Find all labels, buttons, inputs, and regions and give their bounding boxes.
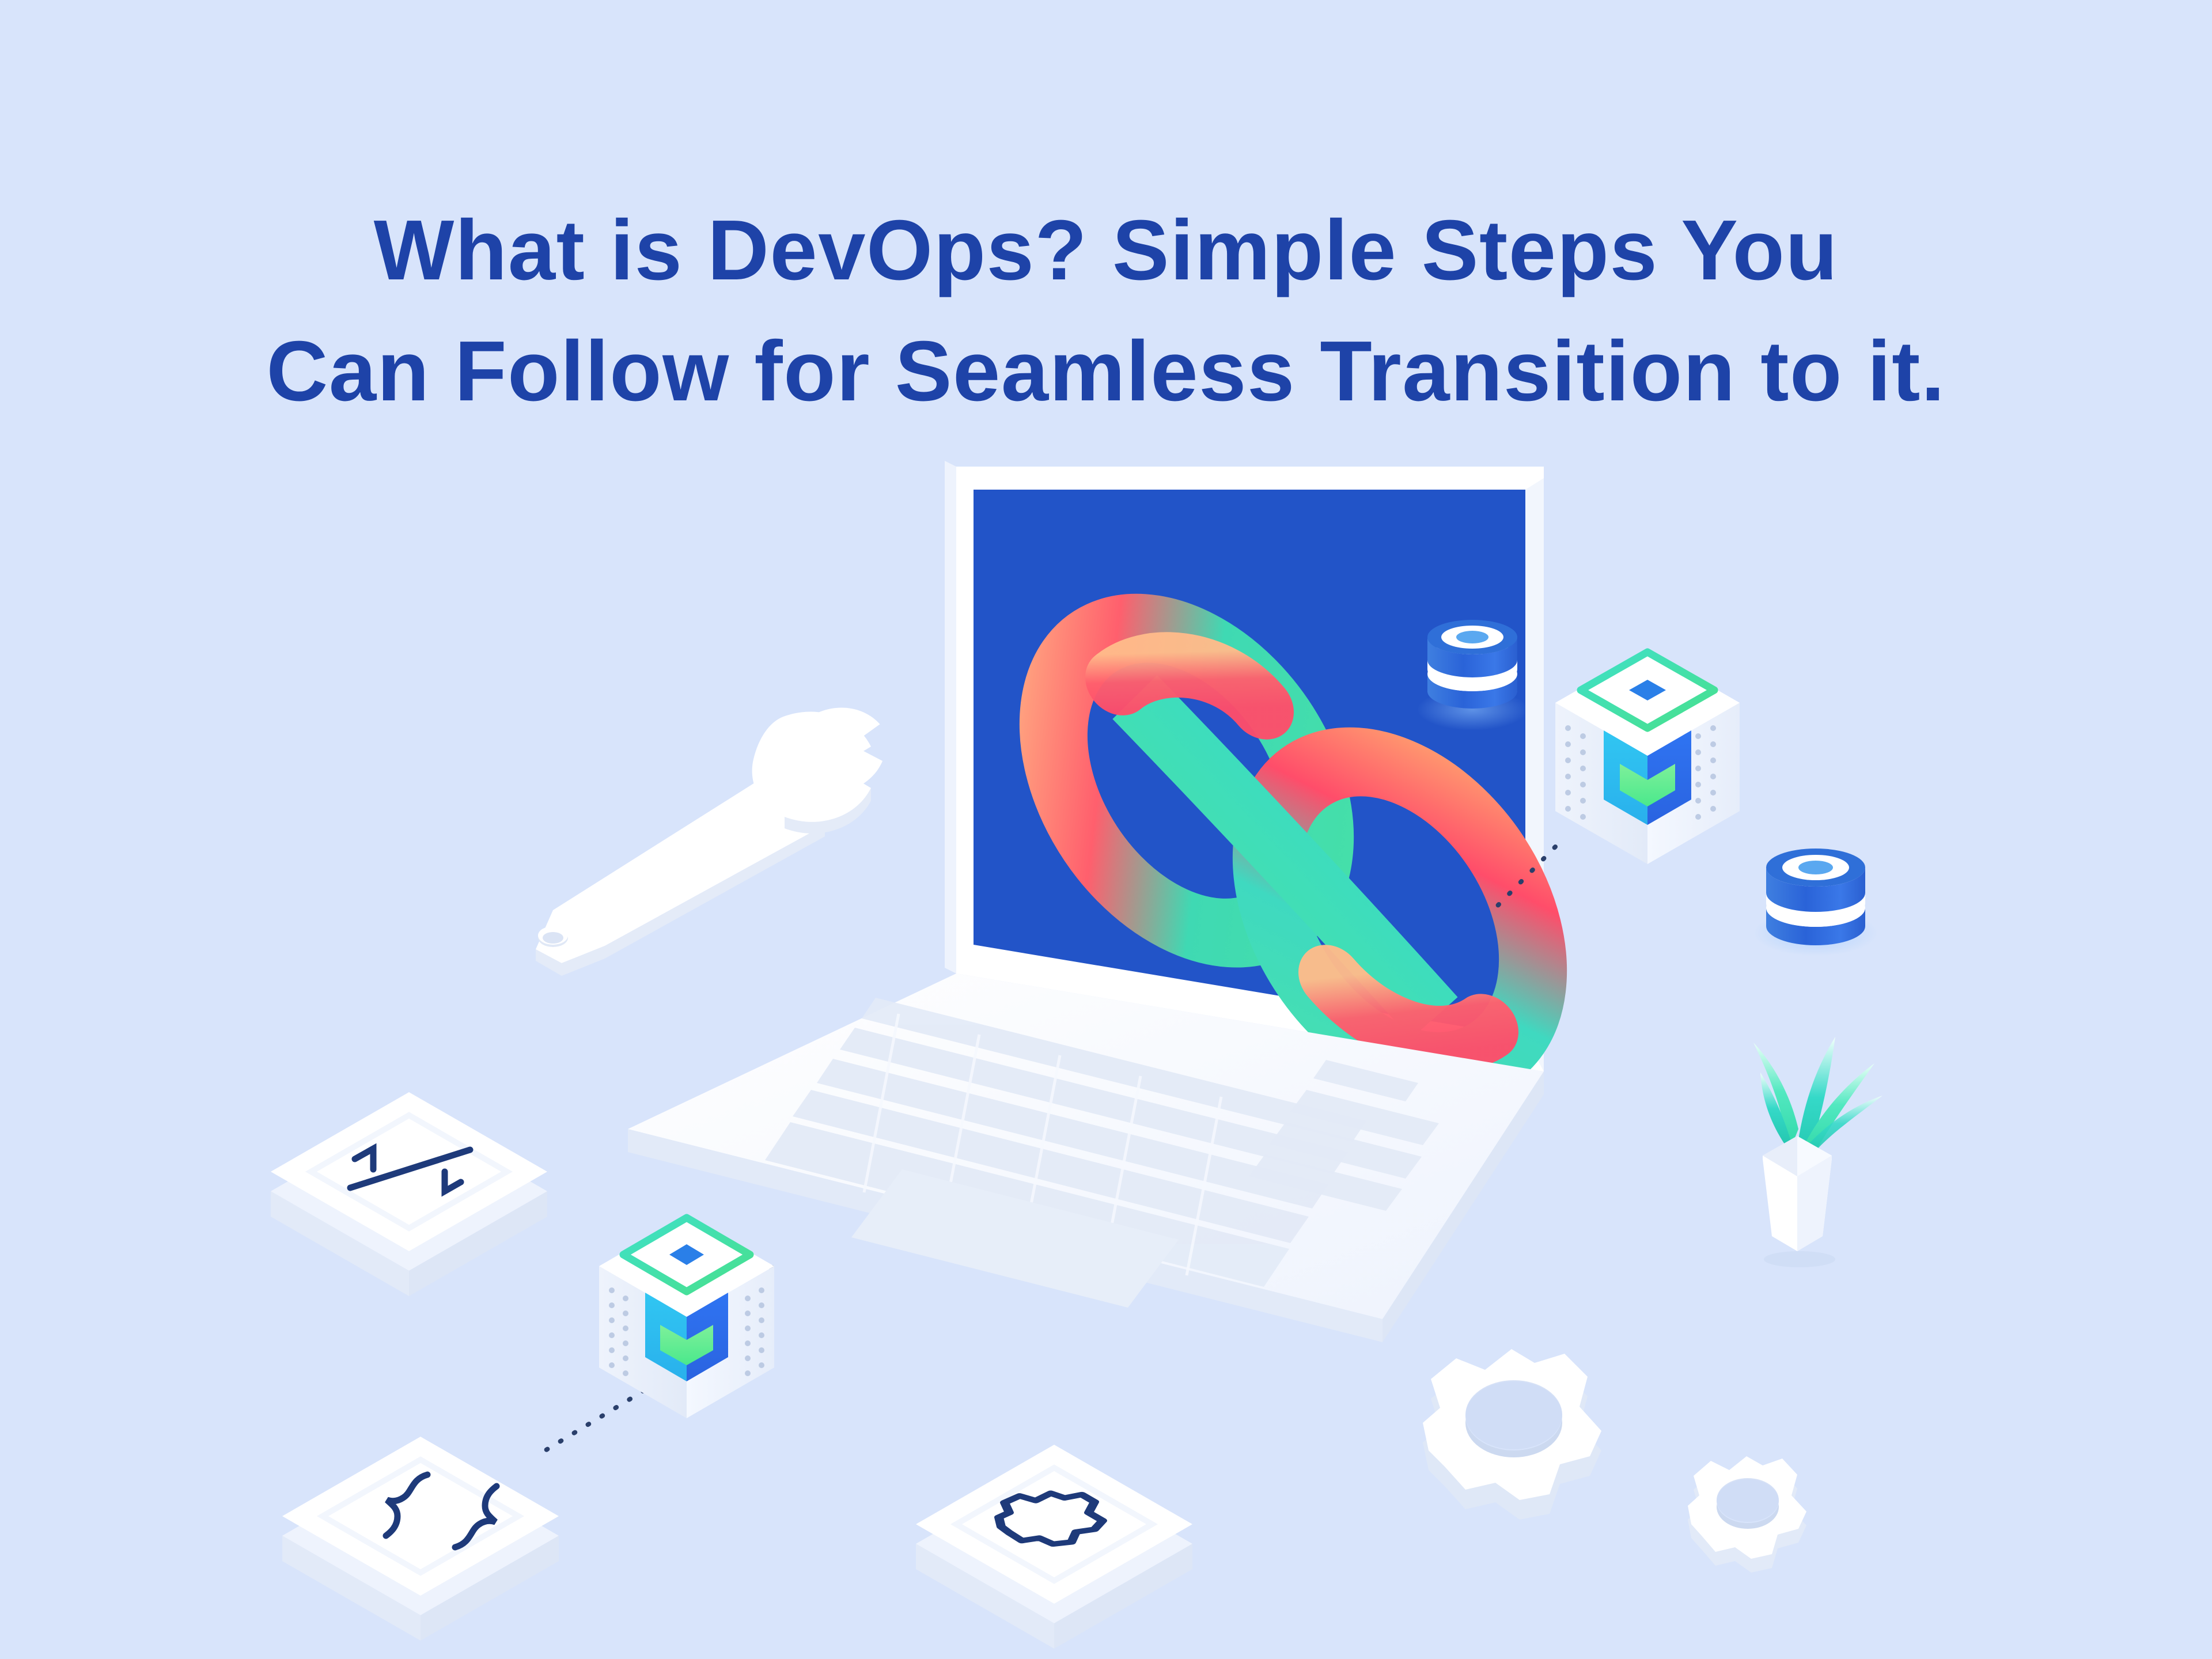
potted-plant bbox=[1753, 1037, 1883, 1267]
plant-leaf bbox=[1753, 1043, 1798, 1152]
database-disc-upper bbox=[1417, 620, 1528, 730]
connector-cube-to-braces-card bbox=[536, 1391, 644, 1456]
gear-large bbox=[1423, 1349, 1601, 1520]
gear-card bbox=[916, 1445, 1192, 1649]
devops-isometric-illustration bbox=[0, 0, 2212, 1659]
illustration-canvas: What is DevOps? Simple Steps You Can Fol… bbox=[0, 0, 2212, 1659]
container-cube-top-right bbox=[1555, 650, 1740, 864]
wrench-tool bbox=[536, 705, 884, 976]
database-disc-right bbox=[1753, 849, 1878, 956]
curly-braces-card bbox=[282, 1437, 559, 1641]
code-tag-card bbox=[271, 1092, 547, 1296]
gear-small bbox=[1688, 1456, 1806, 1573]
laptop bbox=[628, 461, 1586, 1342]
container-cube-bottom-left bbox=[599, 1215, 774, 1418]
